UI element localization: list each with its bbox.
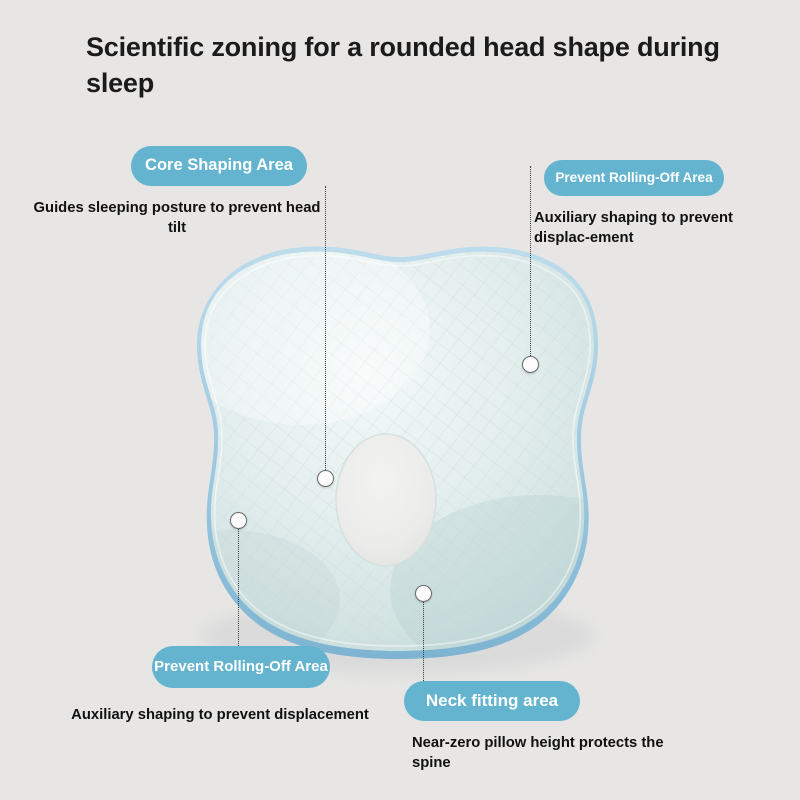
marker-dot-neck-fitting[interactable]	[415, 585, 432, 602]
marker-dot-rolling-off-top[interactable]	[522, 356, 539, 373]
callout-pill-core-shaping[interactable]: Core Shaping Area	[131, 146, 307, 186]
connector-line-neck-fitting	[423, 593, 424, 683]
marker-dot-rolling-off-bottom[interactable]	[230, 512, 247, 529]
callout-caption-rolling-off-bottom: Auxiliary shaping to prevent displacemen…	[60, 705, 380, 725]
callout-caption-rolling-off-top: Auxiliary shaping to prevent displac-eme…	[534, 208, 786, 248]
baby-pillow-illustration	[0, 0, 800, 800]
page-title: Scientific zoning for a rounded head sha…	[86, 30, 726, 101]
callout-caption-neck-fitting: Near-zero pillow height protects the spi…	[412, 733, 682, 773]
connector-line-core-shaping	[325, 186, 326, 478]
callout-pill-neck-fitting[interactable]: Neck fitting area	[404, 681, 580, 721]
connector-line-rolling-off-bottom	[238, 520, 239, 648]
infographic-stage: Scientific zoning for a rounded head sha…	[0, 0, 800, 800]
callout-caption-core-shaping: Guides sleeping posture to prevent head …	[32, 198, 322, 238]
callout-pill-rolling-off-bottom[interactable]: Prevent Rolling-Off Area	[152, 646, 330, 688]
connector-line-rolling-off-top	[530, 166, 531, 364]
callout-pill-rolling-off-top[interactable]: Prevent Rolling-Off Area	[544, 160, 724, 196]
marker-dot-core-shaping[interactable]	[317, 470, 334, 487]
